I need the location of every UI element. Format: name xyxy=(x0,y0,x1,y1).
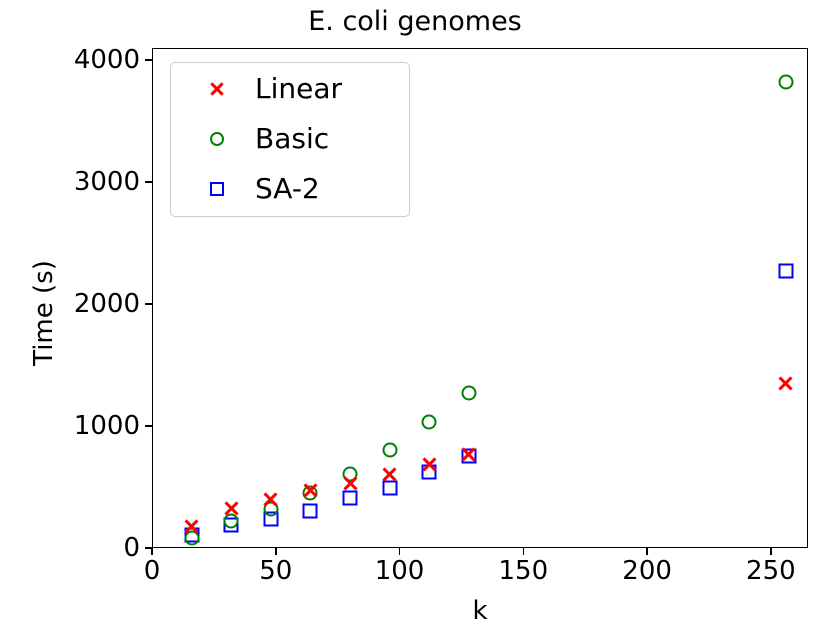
x-tick xyxy=(275,548,277,555)
chart-title: E. coli genomes xyxy=(0,6,830,37)
legend-label: SA-2 xyxy=(255,175,320,203)
x-tick-label: 250 xyxy=(746,556,796,586)
data-point-basic xyxy=(422,414,437,429)
x-tick-label: 200 xyxy=(622,556,672,586)
data-point-sa-2 xyxy=(303,503,318,518)
y-axis-title: Time (s) xyxy=(29,213,59,413)
x-tick-label: 150 xyxy=(498,556,548,586)
data-point-linear xyxy=(263,492,278,507)
data-point-basic xyxy=(382,443,397,458)
data-point-sa-2 xyxy=(382,481,397,496)
x-tick xyxy=(523,548,525,555)
x-tick xyxy=(151,548,153,555)
x-tick-label: 0 xyxy=(144,556,161,586)
x-tick-label: 100 xyxy=(375,556,425,586)
legend-marker-square-icon xyxy=(201,177,233,201)
x-tick-label: 50 xyxy=(259,556,292,586)
data-point-linear xyxy=(224,501,239,516)
data-point-linear xyxy=(184,519,199,534)
y-tick xyxy=(145,59,152,61)
y-tick-label: 4000 xyxy=(74,45,140,75)
y-tick-label: 2000 xyxy=(74,289,140,319)
legend-label: Linear xyxy=(255,75,342,103)
data-point-linear xyxy=(382,467,397,482)
legend: Linear Basic SA-2 xyxy=(170,62,410,217)
legend-marker-x-icon xyxy=(201,77,233,101)
data-point-basic xyxy=(778,74,793,89)
y-tick xyxy=(145,181,152,183)
x-axis-title: k xyxy=(152,596,808,626)
legend-marker-circle-icon xyxy=(201,127,233,151)
data-point-linear xyxy=(303,483,318,498)
legend-item-basic[interactable]: Basic xyxy=(171,115,411,162)
y-tick-label: 1000 xyxy=(74,411,140,441)
x-tick xyxy=(399,548,401,555)
data-point-linear xyxy=(778,376,793,391)
data-point-sa-2 xyxy=(343,491,358,506)
legend-item-sa2[interactable]: SA-2 xyxy=(171,165,411,212)
data-point-basic xyxy=(461,385,476,400)
x-tick xyxy=(646,548,648,555)
data-point-linear xyxy=(343,476,358,491)
figure: E. coli genomes 050100150200250 01000200… xyxy=(0,0,830,644)
y-tick xyxy=(145,303,152,305)
x-tick xyxy=(770,548,772,555)
data-point-linear xyxy=(422,457,437,472)
y-tick-label: 0 xyxy=(123,533,140,563)
data-point-sa-2 xyxy=(778,264,793,279)
y-tick-label: 3000 xyxy=(74,167,140,197)
y-tick xyxy=(145,547,152,549)
legend-label: Basic xyxy=(255,125,329,153)
y-tick xyxy=(145,425,152,427)
legend-item-linear[interactable]: Linear xyxy=(171,65,411,112)
data-point-linear xyxy=(461,447,476,462)
